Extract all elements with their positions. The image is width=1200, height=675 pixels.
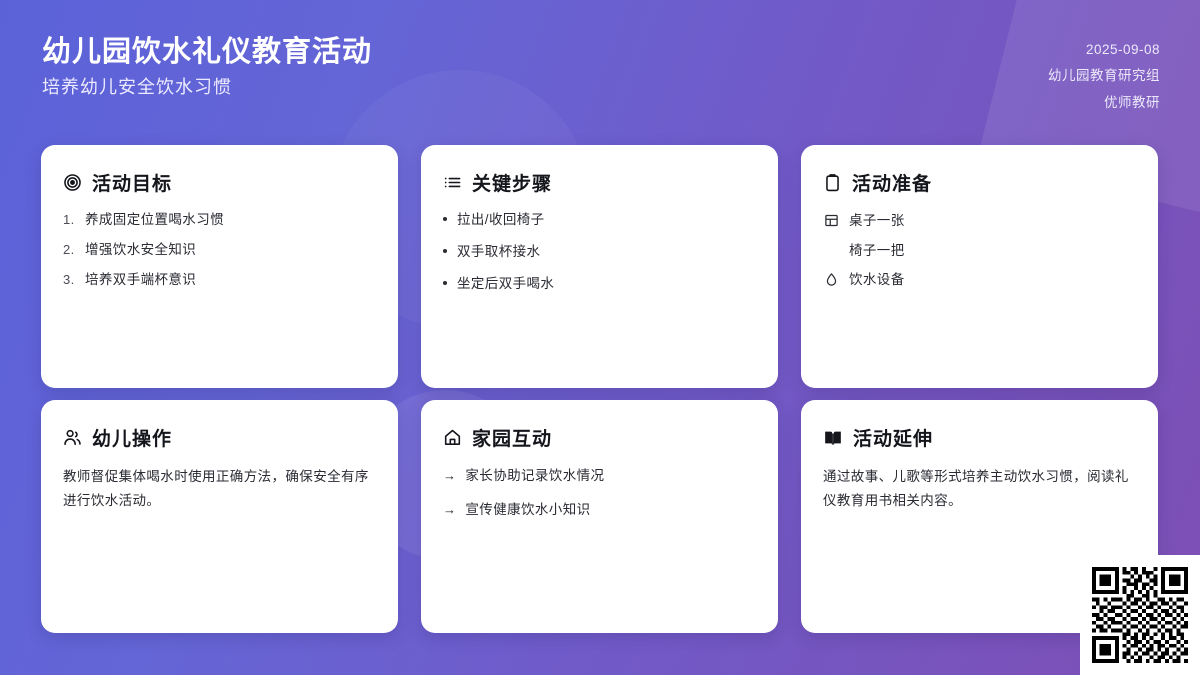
preparation-list: 桌子一张 椅子一把 饮水设备 bbox=[823, 210, 1136, 291]
card-header: 活动延伸 bbox=[823, 424, 1136, 451]
table-icon bbox=[823, 213, 839, 229]
no-icon-placeholder bbox=[823, 242, 839, 258]
card-title: 家园互动 bbox=[472, 424, 552, 451]
card-title: 活动延伸 bbox=[853, 424, 933, 451]
card-activity-goals[interactable]: 活动目标 1. 养成固定位置喝水习惯 2. 增强饮水安全知识 3. 培养双手端杯… bbox=[41, 145, 398, 388]
card-title: 活动准备 bbox=[852, 169, 932, 196]
goals-list: 1. 养成固定位置喝水习惯 2. 增强饮水安全知识 3. 培养双手端杯意识 bbox=[63, 210, 376, 291]
page-header: 幼儿园饮水礼仪教育活动 培养幼儿安全饮水习惯 2025-09-08 幼儿园教育研… bbox=[0, 0, 1200, 140]
list-text: 桌子一张 bbox=[849, 210, 905, 232]
list-text: 养成固定位置喝水习惯 bbox=[85, 210, 224, 231]
card-title: 活动目标 bbox=[92, 169, 172, 196]
bullet-dot bbox=[443, 249, 447, 253]
card-header: 幼儿操作 bbox=[63, 424, 376, 451]
header-meta: 2025-09-08 幼儿园教育研究组 优师教研 bbox=[1048, 36, 1160, 113]
list-text: 宣传健康饮水小知识 bbox=[465, 499, 590, 521]
list-item: 2. 增强饮水安全知识 bbox=[63, 240, 376, 261]
clipboard-icon bbox=[823, 173, 842, 192]
users-icon bbox=[63, 428, 82, 447]
qr-panel bbox=[1080, 555, 1200, 675]
bullet-dot bbox=[443, 281, 447, 285]
list-item: → 家长协助记录饮水情况 bbox=[443, 465, 756, 487]
list-text: 拉出/收回椅子 bbox=[457, 210, 545, 231]
card-home-interaction[interactable]: 家园互动 → 家长协助记录饮水情况 → 宣传健康饮水小知识 bbox=[421, 400, 778, 633]
page-title: 幼儿园饮水礼仪教育活动 bbox=[42, 36, 372, 69]
card-paragraph: 教师督促集体喝水时使用正确方法，确保安全有序进行饮水活动。 bbox=[63, 465, 376, 512]
list-item: 坐定后双手喝水 bbox=[443, 274, 756, 295]
card-header: 关键步骤 bbox=[443, 169, 756, 196]
list-icon bbox=[443, 173, 462, 192]
target-icon bbox=[63, 173, 82, 192]
card-child-operation[interactable]: 幼儿操作 教师督促集体喝水时使用正确方法，确保安全有序进行饮水活动。 bbox=[41, 400, 398, 633]
list-text: 双手取杯接水 bbox=[457, 242, 540, 263]
list-item: 饮水设备 bbox=[823, 269, 1136, 291]
card-header: 家园互动 bbox=[443, 424, 756, 451]
list-item: 拉出/收回椅子 bbox=[443, 210, 756, 231]
list-text: 增强饮水安全知识 bbox=[85, 240, 196, 261]
list-item: 桌子一张 bbox=[823, 210, 1136, 232]
qr-code bbox=[1092, 567, 1188, 663]
droplet-icon bbox=[823, 272, 839, 288]
header-titles: 幼儿园饮水礼仪教育活动 培养幼儿安全饮水习惯 bbox=[42, 36, 372, 99]
list-text: 家长协助记录饮水情况 bbox=[465, 465, 604, 487]
list-number: 3. bbox=[63, 270, 78, 290]
meta-organization: 幼儿园教育研究组 bbox=[1048, 66, 1160, 86]
page-subtitle: 培养幼儿安全饮水习惯 bbox=[42, 77, 372, 99]
list-text: 坐定后双手喝水 bbox=[457, 274, 554, 295]
list-number: 1. bbox=[63, 210, 78, 230]
list-item: 1. 养成固定位置喝水习惯 bbox=[63, 210, 376, 231]
steps-list: 拉出/收回椅子 双手取杯接水 坐定后双手喝水 bbox=[443, 210, 756, 295]
card-header: 活动目标 bbox=[63, 169, 376, 196]
list-item: → 宣传健康饮水小知识 bbox=[443, 499, 756, 521]
list-item: 双手取杯接水 bbox=[443, 242, 756, 263]
card-key-steps[interactable]: 关键步骤 拉出/收回椅子 双手取杯接水 坐定后双手喝水 bbox=[421, 145, 778, 388]
book-icon bbox=[823, 428, 843, 448]
arrow-icon: → bbox=[443, 500, 456, 521]
list-item: 3. 培养双手端杯意识 bbox=[63, 270, 376, 291]
card-header: 活动准备 bbox=[823, 169, 1136, 196]
list-item: 椅子一把 bbox=[823, 240, 1136, 262]
card-paragraph: 通过故事、儿歌等形式培养主动饮水习惯，阅读礼仪教育用书相关内容。 bbox=[823, 465, 1136, 512]
home-icon bbox=[443, 428, 462, 447]
bullet-dot bbox=[443, 217, 447, 221]
list-text: 椅子一把 bbox=[849, 240, 905, 262]
list-number: 2. bbox=[63, 240, 78, 260]
interaction-list: → 家长协助记录饮水情况 → 宣传健康饮水小知识 bbox=[443, 465, 756, 521]
card-title: 幼儿操作 bbox=[92, 424, 172, 451]
meta-source: 优师教研 bbox=[1104, 93, 1160, 113]
list-text: 饮水设备 bbox=[849, 269, 905, 291]
meta-date: 2025-09-08 bbox=[1086, 40, 1160, 60]
list-text: 培养双手端杯意识 bbox=[85, 270, 196, 291]
arrow-icon: → bbox=[443, 466, 456, 487]
card-preparation[interactable]: 活动准备 桌子一张 椅子一把 bbox=[801, 145, 1158, 388]
card-grid: 活动目标 1. 养成固定位置喝水习惯 2. 增强饮水安全知识 3. 培养双手端杯… bbox=[41, 145, 1159, 633]
card-title: 关键步骤 bbox=[472, 169, 552, 196]
